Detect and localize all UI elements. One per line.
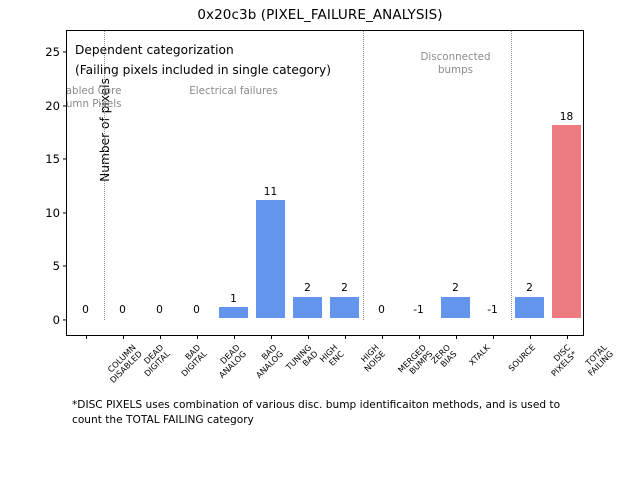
x-axis-tick-label: DEADDIGITAL	[136, 343, 172, 379]
bar-value-label: 0	[378, 304, 385, 316]
chart-title: 0x20c3b (PIXEL_FAILURE_ANALYSIS)	[0, 7, 640, 23]
x-axis-tick-label: BADDIGITAL	[173, 343, 209, 379]
bar[interactable]	[293, 297, 323, 318]
x-axis-tick-mark	[123, 335, 124, 339]
group-annotation: Disabled Core Column Pixels	[67, 85, 121, 111]
x-axis-tick-mark	[160, 335, 161, 339]
x-axis-tick-mark	[271, 335, 272, 339]
x-axis-tick-mark	[493, 335, 494, 339]
bar-value-label: 18	[560, 111, 573, 123]
bar[interactable]	[441, 297, 471, 318]
bar-value-label: 0	[156, 304, 163, 316]
x-axis-tick-mark	[234, 335, 235, 339]
y-axis-tick-mark	[63, 212, 67, 213]
bar-value-label: 2	[452, 282, 459, 294]
x-axis-tick-mark	[197, 335, 198, 339]
y-axis-tick-mark	[63, 105, 67, 106]
bar-value-label: 1	[230, 293, 237, 305]
bar-value-label: 2	[341, 282, 348, 294]
x-axis-tick-label: MERGEDBUMPS	[396, 343, 434, 381]
chart-footnote: *DISC PIXELS uses combination of various…	[72, 398, 582, 428]
x-axis-tick-label: DEADANALOG	[211, 343, 248, 380]
plot-headline-text: (Failing pixels included in single categ…	[75, 63, 331, 77]
plot-axes: Number of pixels 0000111220-12-1218Disab…	[66, 30, 584, 336]
group-separator-line	[363, 31, 364, 320]
bar[interactable]	[219, 307, 249, 318]
bar[interactable]	[330, 297, 360, 318]
bar-value-label: -1	[487, 304, 498, 316]
x-axis-tick-mark	[567, 335, 568, 339]
plot-area: 0000111220-12-1218Disabled Core Column P…	[67, 31, 583, 335]
x-axis-tick-mark	[419, 335, 420, 339]
bar-value-label: 11	[264, 186, 277, 198]
x-axis-tick-mark	[308, 335, 309, 339]
group-annotation: Electrical failures	[189, 85, 278, 98]
bar-value-label: 2	[526, 282, 533, 294]
x-axis-tick-label: HIGHENC	[318, 343, 346, 371]
bar[interactable]	[552, 125, 582, 318]
y-axis-tick-mark	[63, 319, 67, 320]
x-axis-tick-mark	[456, 335, 457, 339]
x-axis-tick-label: XTALK	[467, 343, 491, 367]
y-axis-tick-mark	[63, 52, 67, 53]
group-separator-line	[511, 31, 512, 320]
x-axis-tick-mark	[382, 335, 383, 339]
y-axis-tick-mark	[63, 159, 67, 160]
bar[interactable]	[515, 297, 545, 318]
y-axis-tick-mark	[63, 266, 67, 267]
x-axis-tick-mark	[345, 335, 346, 339]
x-axis-tick-label: TUNINGBAD	[284, 343, 320, 379]
bar-value-label: 0	[193, 304, 200, 316]
bar-value-label: 2	[304, 282, 311, 294]
x-axis-tick-label: DISCPIXELS*	[543, 343, 579, 379]
x-axis-tick-label: BADANALOG	[248, 343, 285, 380]
figure-canvas: 0x20c3b (PIXEL_FAILURE_ANALYSIS) Number …	[0, 0, 640, 480]
x-axis-tick-label: SOURCE	[506, 343, 536, 373]
x-axis-tick-label: HIGHNOISE	[356, 343, 387, 374]
bar[interactable]	[256, 200, 286, 318]
x-axis-tick-label: TOTALFAILING	[580, 343, 615, 378]
bar-value-label: -1	[413, 304, 424, 316]
bar-value-label: 0	[82, 304, 89, 316]
x-axis-tick-label: ZEROBIAS	[429, 343, 458, 372]
x-axis-tick-mark	[530, 335, 531, 339]
group-annotation: Disconnected bumps	[420, 51, 490, 77]
plot-headline-text: Dependent categorization	[75, 43, 234, 57]
x-axis-tick-mark	[86, 335, 87, 339]
bar-value-label: 0	[119, 304, 126, 316]
